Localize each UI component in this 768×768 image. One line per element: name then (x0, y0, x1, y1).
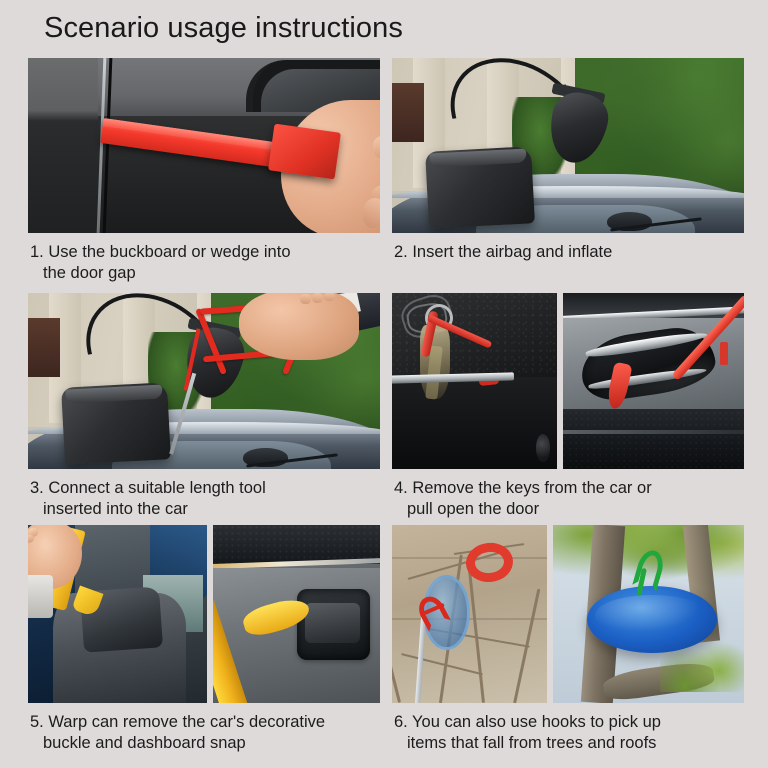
step-4-caption: 4. Remove the keys from the car or pull … (392, 469, 744, 525)
step-3-caption: 3. Connect a suitable length tool insert… (28, 469, 380, 525)
step-3-line-1: 3. Connect a suitable length tool (30, 478, 378, 499)
step-5-image-left (28, 525, 207, 703)
steps-grid: 1. Use the buckboard or wedge into the d… (28, 58, 748, 759)
step-2-line-1: 2. Insert the airbag and inflate (394, 242, 742, 263)
step-5-caption: 5. Warp can remove the car's decorative … (28, 703, 380, 759)
step-5-line-2: buckle and dashboard snap (30, 733, 378, 754)
interior-door-handle (297, 589, 370, 660)
step-card-3: 3. Connect a suitable length tool insert… (28, 293, 380, 525)
step-1-line-2: the door gap (30, 263, 378, 284)
step-5-image-right (213, 525, 380, 703)
step-6-caption: 6. You can also use hooks to pick up ite… (392, 703, 744, 759)
page-title: Scenario usage instructions (44, 8, 403, 48)
step-6-image (392, 525, 744, 703)
step-3-line-2: inserted into the car (30, 499, 378, 520)
step-5-line-1: 5. Warp can remove the car's decorative (30, 712, 378, 733)
step-6-image-right (553, 525, 744, 703)
step-6-line-1: 6. You can also use hooks to pick up (394, 712, 742, 733)
step-4-image (392, 293, 744, 469)
step-6-line-2: items that fall from trees and roofs (394, 733, 742, 754)
step-4-image-right (563, 293, 744, 469)
step-card-1: 1. Use the buckboard or wedge into the d… (28, 58, 380, 293)
step-2-caption: 2. Insert the airbag and inflate (392, 233, 744, 293)
instruction-poster: Scenario usage instructions 1. Us (0, 0, 768, 768)
step-card-6: 6. You can also use hooks to pick up ite… (392, 525, 744, 759)
step-card-2: 2. Insert the airbag and inflate (392, 58, 744, 293)
step-4-image-left (392, 293, 557, 469)
step-card-5: 5. Warp can remove the car's decorative … (28, 525, 380, 759)
step-card-4: 4. Remove the keys from the car or pull … (392, 293, 744, 525)
step-1-image (28, 58, 380, 233)
step-3-image (28, 293, 380, 469)
step-5-image (28, 525, 380, 703)
step-1-caption: 1. Use the buckboard or wedge into the d… (28, 233, 380, 293)
step-4-line-1: 4. Remove the keys from the car or (394, 478, 742, 499)
step-1-line-1: 1. Use the buckboard or wedge into (30, 242, 378, 263)
hand-illustration (239, 293, 359, 360)
blue-disc-object (587, 586, 717, 654)
step-6-image-left (392, 525, 547, 703)
step-4-line-2: pull open the door (394, 499, 742, 520)
step-2-image (392, 58, 744, 233)
